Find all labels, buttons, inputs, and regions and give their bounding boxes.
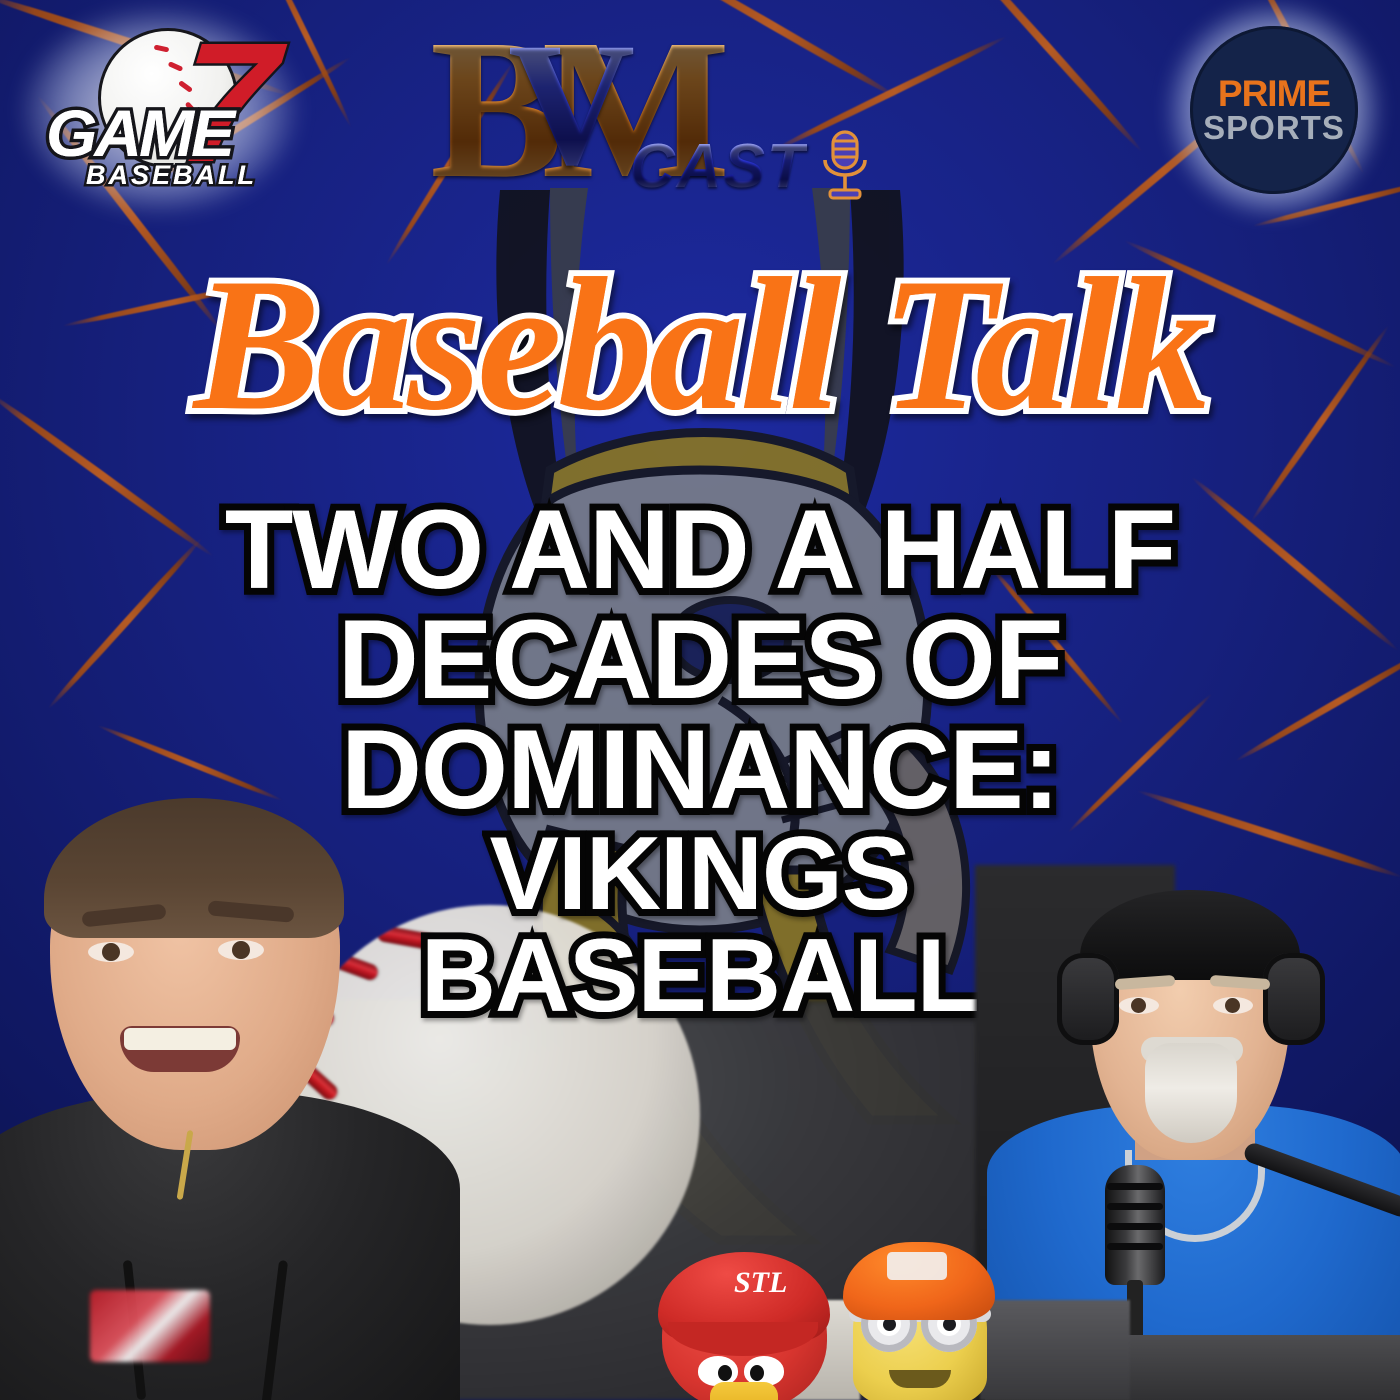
show-title: Baseball Talk (65, 250, 1335, 440)
prime-word: PRIME (1218, 76, 1330, 111)
eye-left (1119, 997, 1159, 1014)
monitor (980, 1300, 1130, 1400)
eye-right (1213, 997, 1253, 1014)
baseball-word: BASEBALL (86, 162, 257, 189)
goatee (1145, 1043, 1237, 1143)
headphone-earcup-left (1057, 953, 1119, 1045)
bvm-cast-logo[interactable]: B M V CAST (430, 18, 900, 223)
headline-line-1: TWO AND A HALFTWO AND A HALF (0, 495, 1400, 605)
minion-figure (845, 1248, 995, 1400)
minion-mouth (889, 1370, 951, 1388)
hoodie-graphic (90, 1290, 210, 1362)
game-word: GAME (46, 100, 232, 166)
headline-line-2: DECADES OFDECADES OF (0, 605, 1400, 715)
studio-microphone (1105, 1165, 1165, 1285)
helmet-badge (887, 1252, 947, 1280)
cast-word: CAST (630, 136, 807, 198)
headline-line-2-fill: DECADES OF (0, 605, 1400, 715)
eye-left (88, 942, 134, 962)
podcast-thumbnail: 7 GAME GAME BASEBALL BASEBALL B M V CAST (0, 0, 1400, 1400)
prime-sports-logo[interactable]: PRIME SPORTS (1190, 26, 1358, 194)
headphone-earcup-right (1263, 953, 1325, 1045)
plush-beak (710, 1382, 778, 1400)
angry-bird-plush: STL (662, 1260, 827, 1400)
host-left-photo (0, 790, 440, 1400)
stl-monogram: STL (734, 1266, 787, 1300)
mouth (120, 1026, 240, 1072)
microphone-icon (818, 130, 872, 202)
game-7-baseball-logo[interactable]: 7 GAME GAME BASEBALL BASEBALL (40, 22, 280, 202)
orange-helmet (843, 1242, 995, 1320)
monogram-letter-v: V (508, 28, 635, 183)
headline-line-1-fill: TWO AND A HALF (0, 495, 1400, 605)
logo-circle: PRIME SPORTS (1190, 26, 1358, 194)
sports-word: SPORTS (1203, 111, 1345, 144)
eye-right (218, 940, 264, 960)
